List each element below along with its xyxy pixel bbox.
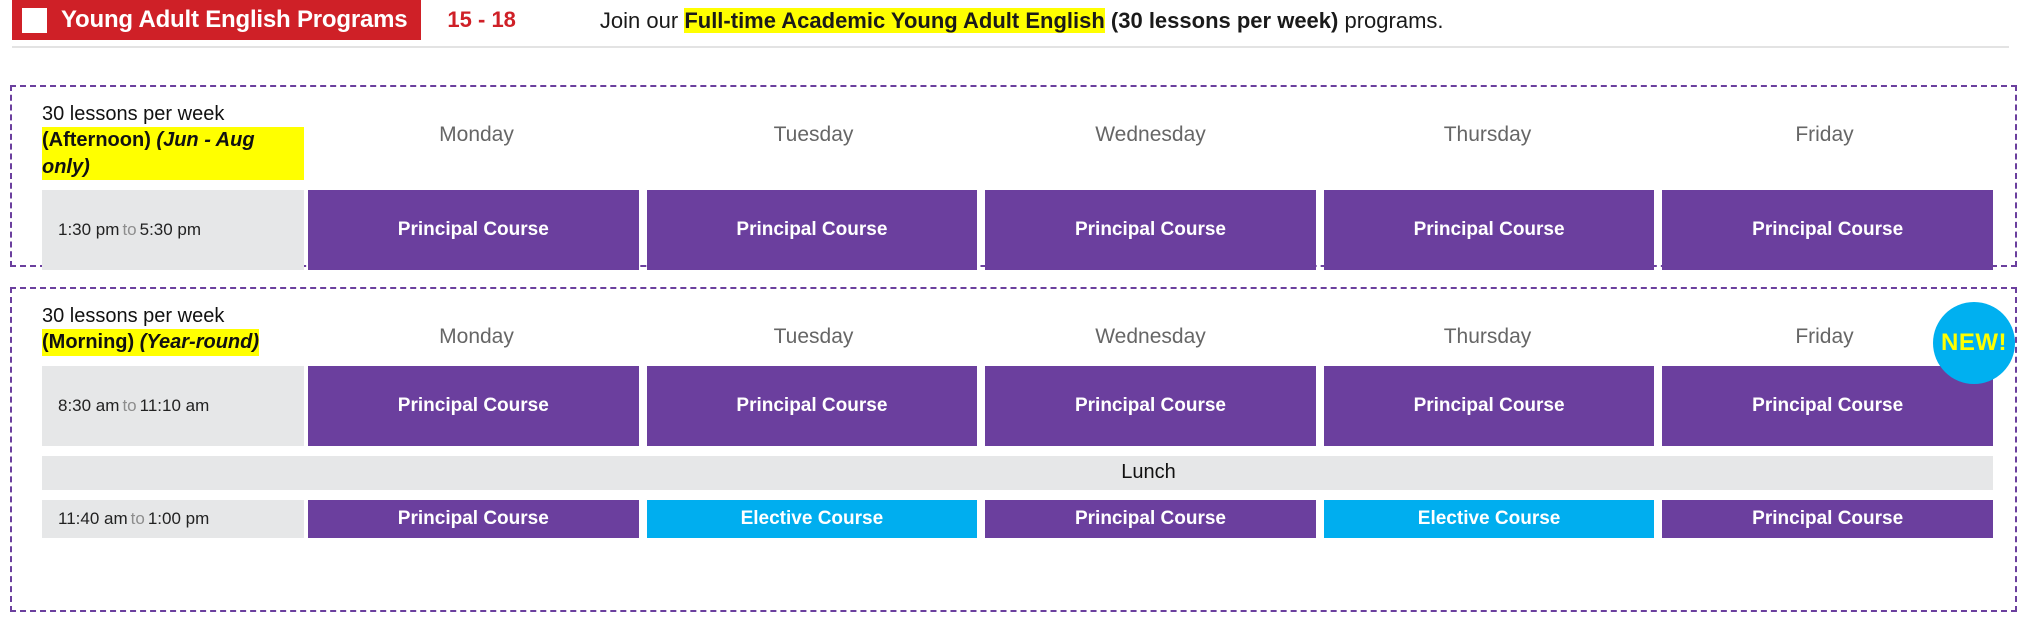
period-label-afternoon: (Afternoon) (Jun - Aug only) xyxy=(42,127,304,180)
day-header-tuesday: Tuesday xyxy=(645,325,982,349)
time-cell: 11:40 amto1:00 pm xyxy=(42,500,304,538)
day-header-wednesday: Wednesday xyxy=(982,325,1319,349)
course-cell-monday[interactable]: Principal Course xyxy=(308,366,639,446)
course-cell-wednesday[interactable]: Principal Course xyxy=(985,500,1316,538)
program-tag-label: Young Adult English Programs xyxy=(61,6,407,34)
course-cell-monday[interactable]: Principal Course xyxy=(308,190,639,270)
day-header-monday: Monday xyxy=(308,123,645,147)
course-cell-wednesday[interactable]: Principal Course xyxy=(985,190,1316,270)
lunch-row: Lunch xyxy=(42,456,1993,490)
schedule-block-morning: 30 lessons per week (Morning) (Year-roun… xyxy=(10,287,2017,612)
intro-text: Join our Full-time Academic Young Adult … xyxy=(600,8,1444,34)
time-cell: 8:30 amto11:10 am xyxy=(42,366,304,446)
course-cell-tuesday[interactable]: Principal Course xyxy=(647,190,978,270)
page-header: Young Adult English Programs 15 - 18 Joi… xyxy=(0,0,2027,46)
course-cell-tuesday[interactable]: Principal Course xyxy=(647,366,978,446)
course-cell-wednesday[interactable]: Principal Course xyxy=(985,366,1316,446)
schedule-page: Young Adult English Programs 15 - 18 Joi… xyxy=(0,0,2027,622)
day-header-monday: Monday xyxy=(308,325,645,349)
course-cell-friday[interactable]: Principal Course xyxy=(1662,366,1993,446)
time-start: 8:30 am xyxy=(58,396,119,416)
time-start: 11:40 am xyxy=(58,509,128,529)
schedule-row: 8:30 amto11:10 am Principal Course Princ… xyxy=(42,366,1993,446)
day-header-row-morning: Monday Tuesday Wednesday Thursday Friday xyxy=(304,325,1993,349)
course-cells: Principal Course Principal Course Princi… xyxy=(304,366,1993,446)
program-color-swatch-icon xyxy=(22,8,47,33)
time-separator: to xyxy=(119,220,139,240)
intro-highlight: Full-time Academic Young Adult English xyxy=(684,8,1104,33)
block-header-morning: 30 lessons per week (Morning) (Year-roun… xyxy=(42,303,1993,356)
intro-suffix: programs. xyxy=(1338,8,1443,33)
time-end: 1:00 pm xyxy=(148,509,209,529)
course-cell-tuesday[interactable]: Elective Course xyxy=(647,500,978,538)
intro-lessons: (30 lessons per week) xyxy=(1105,8,1339,33)
course-cell-monday[interactable]: Principal Course xyxy=(308,500,639,538)
time-separator: to xyxy=(128,509,148,529)
time-end: 11:10 am xyxy=(140,396,210,416)
course-cell-thursday[interactable]: Principal Course xyxy=(1324,366,1655,446)
lunch-bar: Lunch xyxy=(304,456,1993,490)
period-label-morning: (Morning) (Year-round) xyxy=(42,329,259,355)
block-header-afternoon: 30 lessons per week (Afternoon) (Jun - A… xyxy=(42,101,1993,180)
lunch-time-spacer xyxy=(42,456,304,490)
lessons-per-week-afternoon: 30 lessons per week xyxy=(42,101,304,127)
age-range-label: 15 - 18 xyxy=(447,7,516,33)
program-tag: Young Adult English Programs xyxy=(12,0,421,40)
new-badge: NEW! xyxy=(1933,302,2015,384)
day-header-thursday: Thursday xyxy=(1319,123,1656,147)
course-cell-thursday[interactable]: Elective Course xyxy=(1324,500,1655,538)
day-header-wednesday: Wednesday xyxy=(982,123,1319,147)
schedule-block-afternoon: 30 lessons per week (Afternoon) (Jun - A… xyxy=(10,85,2017,267)
block-label-morning: 30 lessons per week (Morning) (Year-roun… xyxy=(42,303,304,356)
day-header-tuesday: Tuesday xyxy=(645,123,982,147)
schedule-row: 1:30 pmto5:30 pm Principal Course Princi… xyxy=(42,190,1993,270)
intro-prefix: Join our xyxy=(600,8,684,33)
day-header-thursday: Thursday xyxy=(1319,325,1656,349)
block-label-afternoon: 30 lessons per week (Afternoon) (Jun - A… xyxy=(42,101,304,180)
lessons-per-week-morning: 30 lessons per week xyxy=(42,303,304,329)
day-header-friday: Friday xyxy=(1656,123,1993,147)
course-cell-friday[interactable]: Principal Course xyxy=(1662,190,1993,270)
header-divider xyxy=(12,46,2009,48)
course-cell-friday[interactable]: Principal Course xyxy=(1662,500,1993,538)
time-separator: to xyxy=(119,396,139,416)
course-cells: Principal Course Principal Course Princi… xyxy=(304,190,1993,270)
course-cell-thursday[interactable]: Principal Course xyxy=(1324,190,1655,270)
new-badge-label: NEW! xyxy=(1941,329,2007,357)
day-header-row-afternoon: Monday Tuesday Wednesday Thursday Friday xyxy=(304,123,1993,147)
period-name-morning: (Morning) xyxy=(42,331,134,353)
schedule-row: 11:40 amto1:00 pm Principal Course Elect… xyxy=(42,500,1993,538)
season-note-morning: (Year-round) xyxy=(134,331,259,353)
time-start: 1:30 pm xyxy=(58,220,119,240)
course-cells: Principal Course Elective Course Princip… xyxy=(304,500,1993,538)
period-name-afternoon: (Afternoon) xyxy=(42,129,151,151)
time-end: 5:30 pm xyxy=(140,220,201,240)
time-cell: 1:30 pmto5:30 pm xyxy=(42,190,304,270)
